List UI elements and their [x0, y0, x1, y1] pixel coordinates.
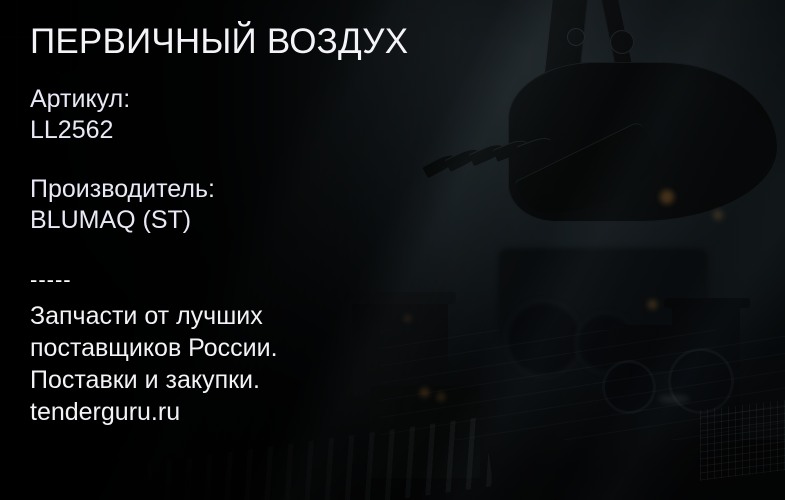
field-manufacturer-label: Производитель: [30, 174, 215, 205]
promo-line: Поставки и закупки. [30, 364, 278, 396]
bucket-tooth-icon [469, 141, 505, 167]
excavator-pin-icon [646, 78, 672, 104]
excavator-pin-icon [604, 88, 626, 110]
field-article-value: LL2562 [30, 115, 130, 146]
bucket-tooth-icon [493, 137, 529, 162]
product-banner-card: ПЕРВИЧНЫЙ ВОЗДУХ Артикул: LL2562 Произво… [0, 0, 785, 500]
grating-panel [700, 399, 785, 480]
lamp-bokeh [660, 190, 674, 204]
tractor-rear-wheel [668, 348, 734, 414]
excavator-pin-icon [610, 30, 634, 54]
excavator-linkage-icon [597, 0, 640, 105]
field-article-label: Артикул: [30, 84, 130, 115]
field-manufacturer: Производитель: BLUMAQ (ST) [30, 174, 215, 236]
excavator-pin-icon [567, 28, 585, 46]
card-content: ПЕРВИЧНЫЙ ВОЗДУХ Артикул: LL2562 Произво… [30, 0, 460, 500]
promo-site-url: tenderguru.ru [30, 396, 278, 428]
field-article: Артикул: LL2562 [30, 84, 130, 146]
lamp-bokeh [658, 395, 690, 403]
lamp-bokeh [648, 300, 657, 309]
field-manufacturer-value: BLUMAQ (ST) [30, 205, 215, 236]
page-title: ПЕРВИЧНЫЙ ВОЗДУХ [30, 22, 408, 62]
excavator-arm-icon [535, 0, 591, 161]
tractor-roof-icon [664, 298, 750, 308]
background-container-block [740, 360, 785, 440]
loader-wheel [575, 312, 637, 374]
tractor-cab-icon [672, 305, 740, 371]
tractor-front-wheel [602, 360, 656, 414]
excavator-bucket-lip [514, 120, 665, 234]
lamp-bokeh [713, 210, 723, 220]
divider: ----- [30, 268, 72, 292]
excavator-bucket-icon [508, 62, 778, 222]
tractor-hood-icon [608, 325, 686, 371]
background-loader-silhouette [498, 248, 708, 344]
loader-wheel [505, 300, 583, 378]
promo-text-block: Запчасти от лучших поставщиков России. П… [30, 300, 278, 428]
promo-line: Запчасти от лучших [30, 300, 278, 332]
promo-line: поставщиков России. [30, 332, 278, 364]
bucket-tooth-icon [517, 135, 553, 159]
